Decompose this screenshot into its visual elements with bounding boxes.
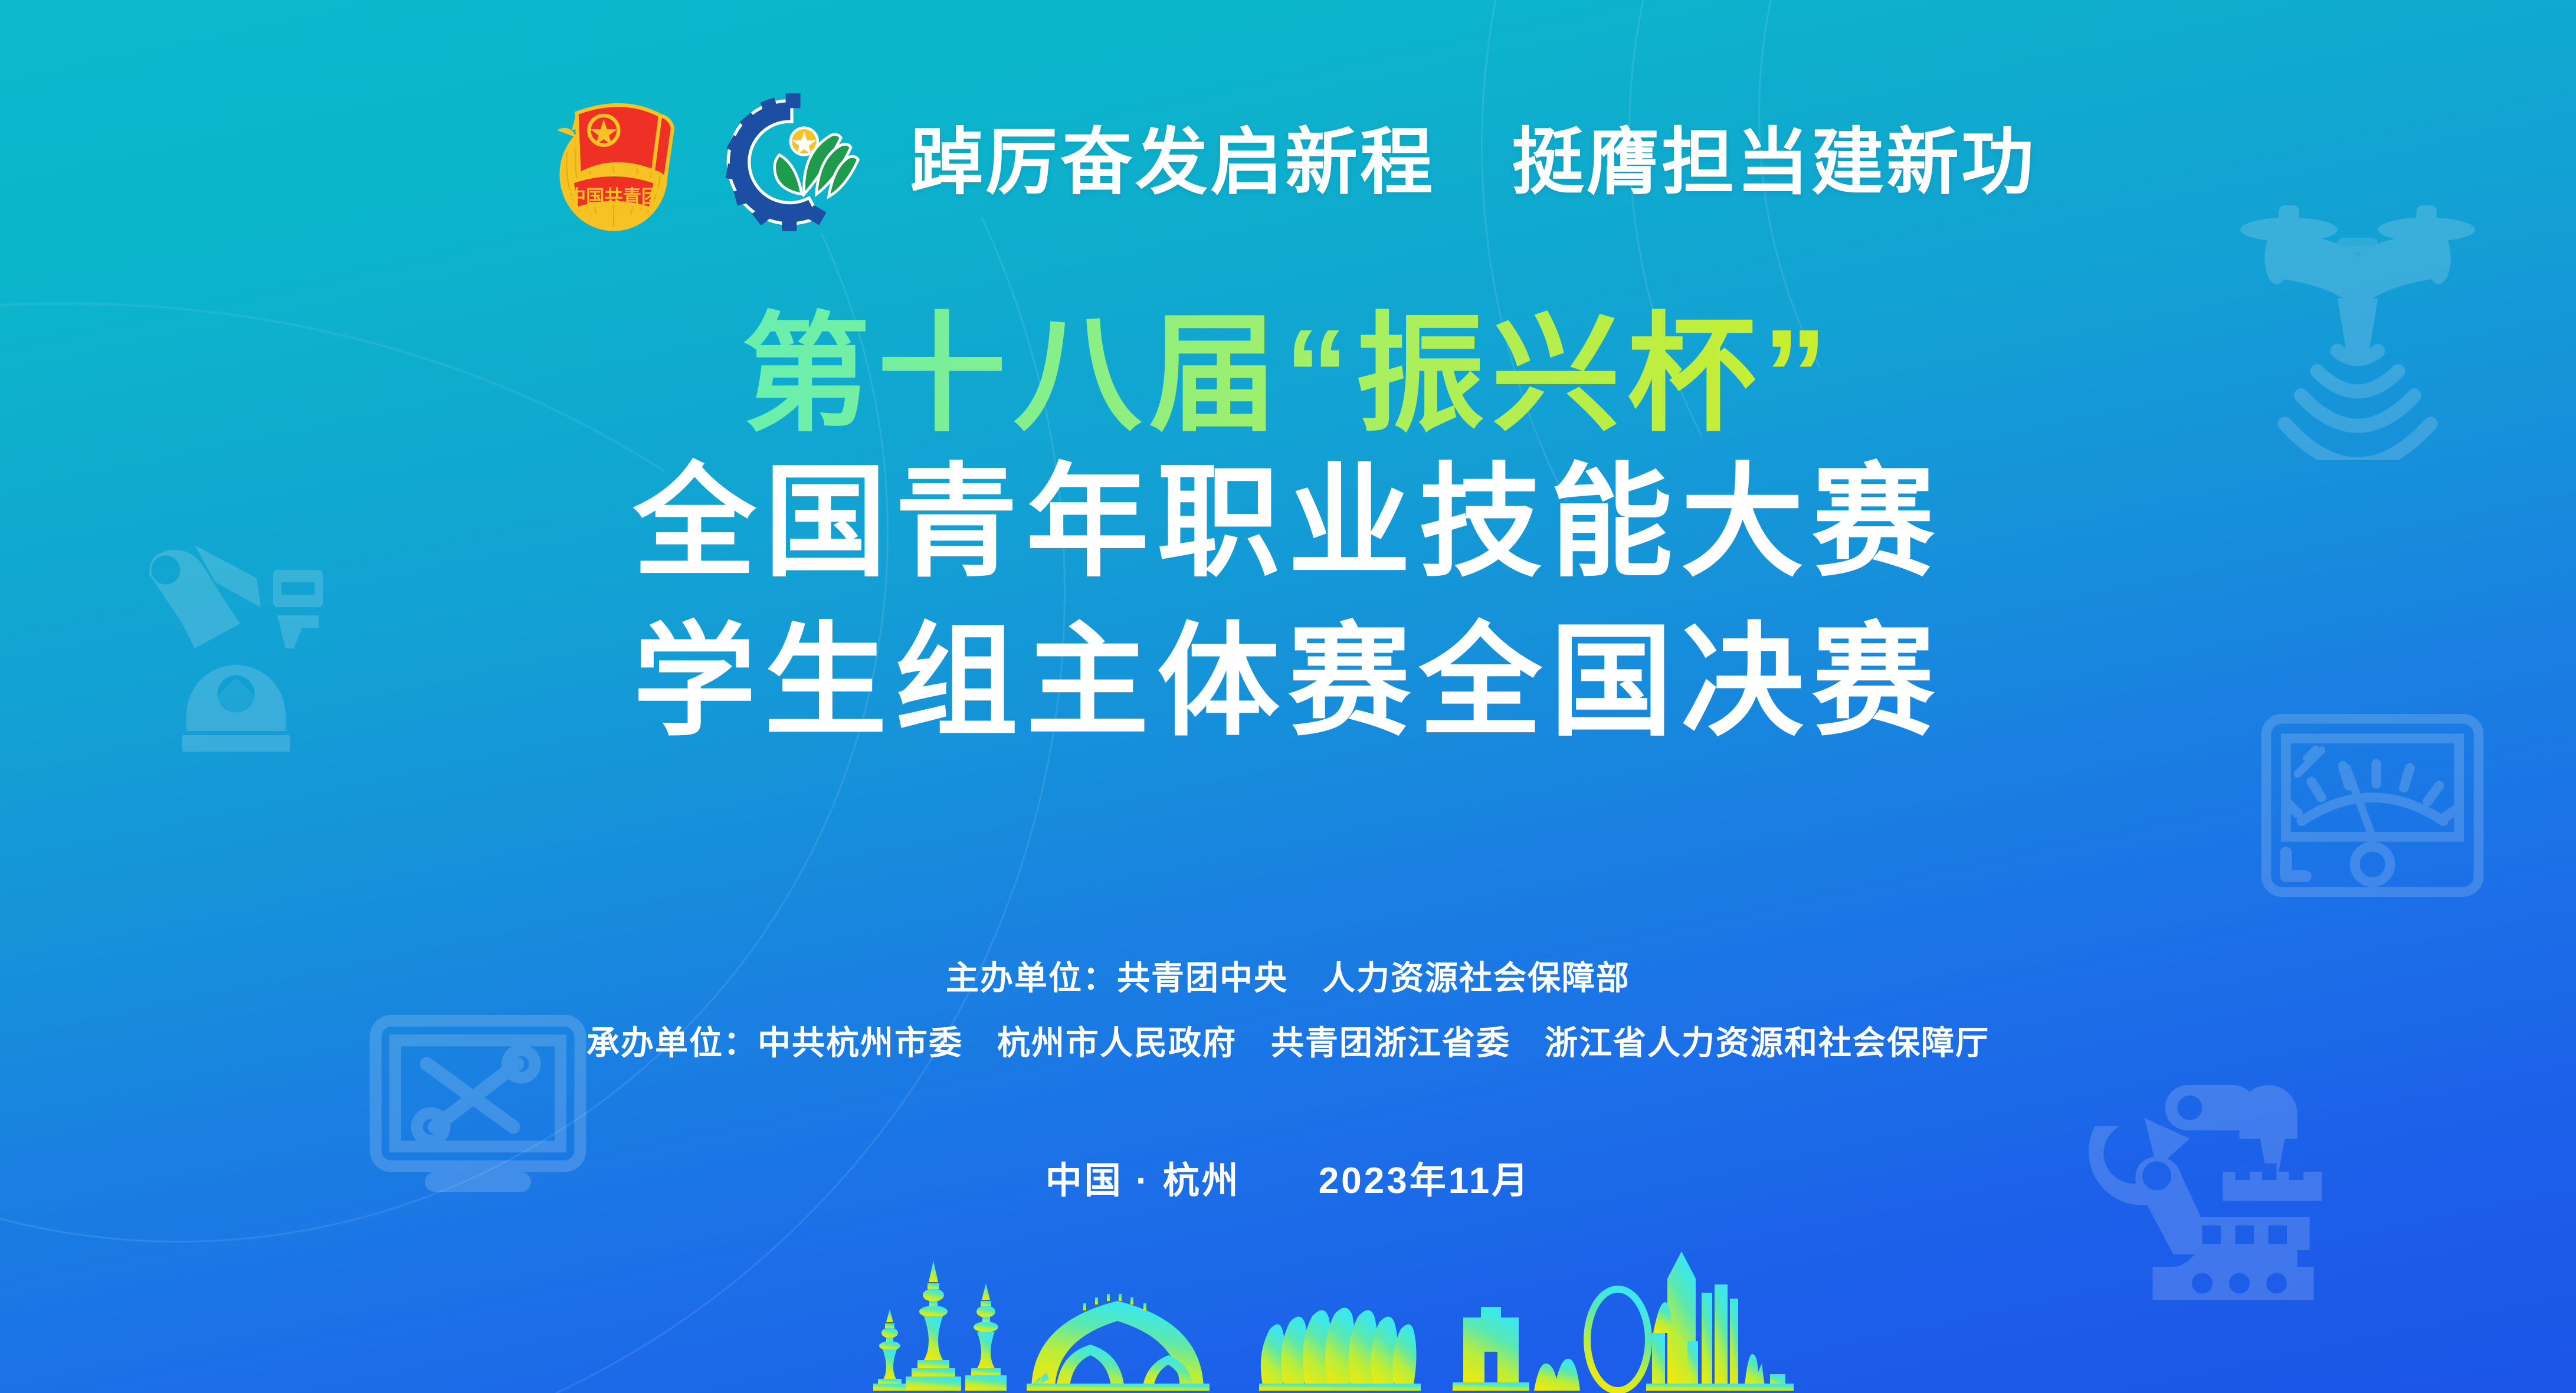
poster-root: 中国共青团	[0, 0, 2576, 1393]
title-line-2: 全国青年职业技能大赛	[0, 443, 2576, 602]
skyline-shapes	[873, 1251, 1794, 1391]
organizers: 主办单位：共青团中央 人力资源社会保障部 承办单位：中共杭州市委 杭州市人民政府…	[0, 962, 2576, 1060]
city-skyline	[1453, 1251, 1794, 1391]
olympic-sports-center	[1259, 1307, 1421, 1391]
skills-competition-emblem	[718, 89, 866, 236]
venue-line: 中国 · 杭州 2023年11月	[0, 1151, 2576, 1204]
ferris-wheel	[1587, 1289, 1648, 1391]
arch-bridge	[1027, 1294, 1210, 1391]
title-line-3: 学生组主体赛全国决赛	[0, 602, 2576, 762]
slogan-right: 挺膺担当建新功	[1512, 126, 2036, 199]
slogan: 踔厉奋发启新程 挺膺担当建新功	[910, 126, 2036, 199]
communist-youth-league-emblem: 中国共青团	[540, 89, 687, 236]
pagoda-small-right	[965, 1283, 1007, 1391]
pagoda-small-left	[873, 1309, 906, 1391]
slogan-left: 踔厉奋发启新程	[910, 126, 1435, 199]
header: 中国共青团	[0, 89, 2576, 236]
co-host-line: 承办单位：中共杭州市委 杭州市人民政府 共青团浙江省委 浙江省人力资源和社会保障…	[0, 1027, 2576, 1060]
title-line-1: 第十八届“振兴杯”	[0, 307, 2576, 443]
title-block: 第十八届“振兴杯” 全国青年职业技能大赛 学生组主体赛全国决赛	[0, 307, 2576, 762]
svg-text:中国共青团: 中国共青团	[568, 186, 660, 207]
hangzhou-skyline	[0, 1228, 2576, 1393]
host-line: 主办单位：共青团中央 人力资源社会保障部	[0, 962, 2576, 995]
pagoda-tall-center	[906, 1261, 961, 1391]
